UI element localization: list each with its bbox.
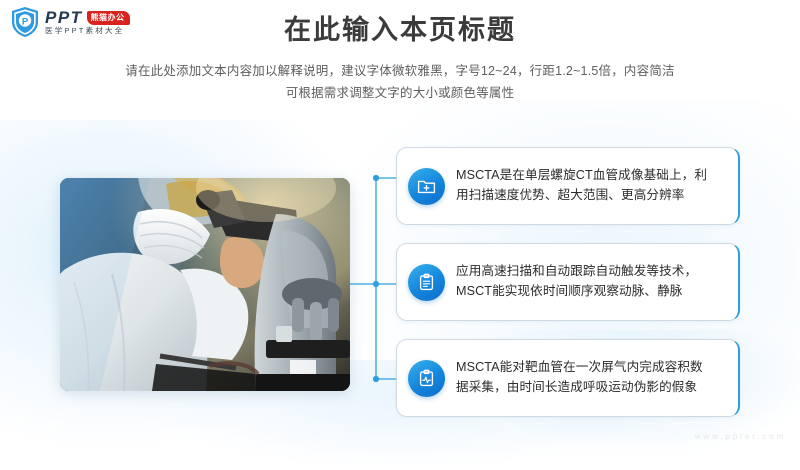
page-title: 在此输入本页标题	[0, 14, 800, 46]
page-subtitle-line1: 请在此处添加文本内容加以解释说明，建议字体微软雅黑，字号12~24，行距1.2~…	[0, 61, 800, 83]
microscope-photo	[60, 178, 350, 391]
info-box-3-text: MSCTA能对靶血管在一次屏气内完成容积数 据采集，由时间长造成呼吸运动伪影的假…	[456, 358, 703, 397]
info-box-2-line2: MSCT能实现依时间顺序观察动脉、静脉	[456, 282, 697, 302]
info-box-3-line2: 据采集，由时间长造成呼吸运动伪影的假象	[456, 378, 703, 398]
microscope-photo-illustration	[60, 178, 350, 391]
page-subtitle: 请在此处添加文本内容加以解释说明，建议字体微软雅黑，字号12~24，行距1.2~…	[0, 61, 800, 105]
folder-plus-icon	[408, 168, 445, 205]
page-subtitle-line2: 可根据需求调整文字的大小或颜色等属性	[0, 83, 800, 105]
footer-watermark: www.ppter.com	[695, 431, 786, 441]
info-box-1-line1: MSCTA是在单层螺旋CT血管成像基础上，利	[456, 166, 707, 186]
info-box-1-line2: 用扫描速度优势、超大范围、更高分辨率	[456, 186, 707, 206]
info-box-3-line1: MSCTA能对靶血管在一次屏气内完成容积数	[456, 358, 703, 378]
info-box-3[interactable]: MSCTA能对靶血管在一次屏气内完成容积数 据采集，由时间长造成呼吸运动伪影的假…	[396, 339, 740, 417]
info-box-2[interactable]: 应用高速扫描和自动跟踪自动触发等技术， MSCT能实现依时间顺序观察动脉、静脉	[396, 243, 740, 321]
clipboard-icon	[408, 264, 445, 301]
info-box-1[interactable]: MSCTA是在单层螺旋CT血管成像基础上，利 用扫描速度优势、超大范围、更高分辨…	[396, 147, 740, 225]
info-box-2-text: 应用高速扫描和自动跟踪自动触发等技术， MSCT能实现依时间顺序观察动脉、静脉	[456, 262, 697, 301]
info-box-1-text: MSCTA是在单层螺旋CT血管成像基础上，利 用扫描速度优势、超大范围、更高分辨…	[456, 166, 707, 205]
clipboard-pulse-icon	[408, 360, 445, 397]
info-box-2-line1: 应用高速扫描和自动跟踪自动触发等技术，	[456, 262, 697, 282]
